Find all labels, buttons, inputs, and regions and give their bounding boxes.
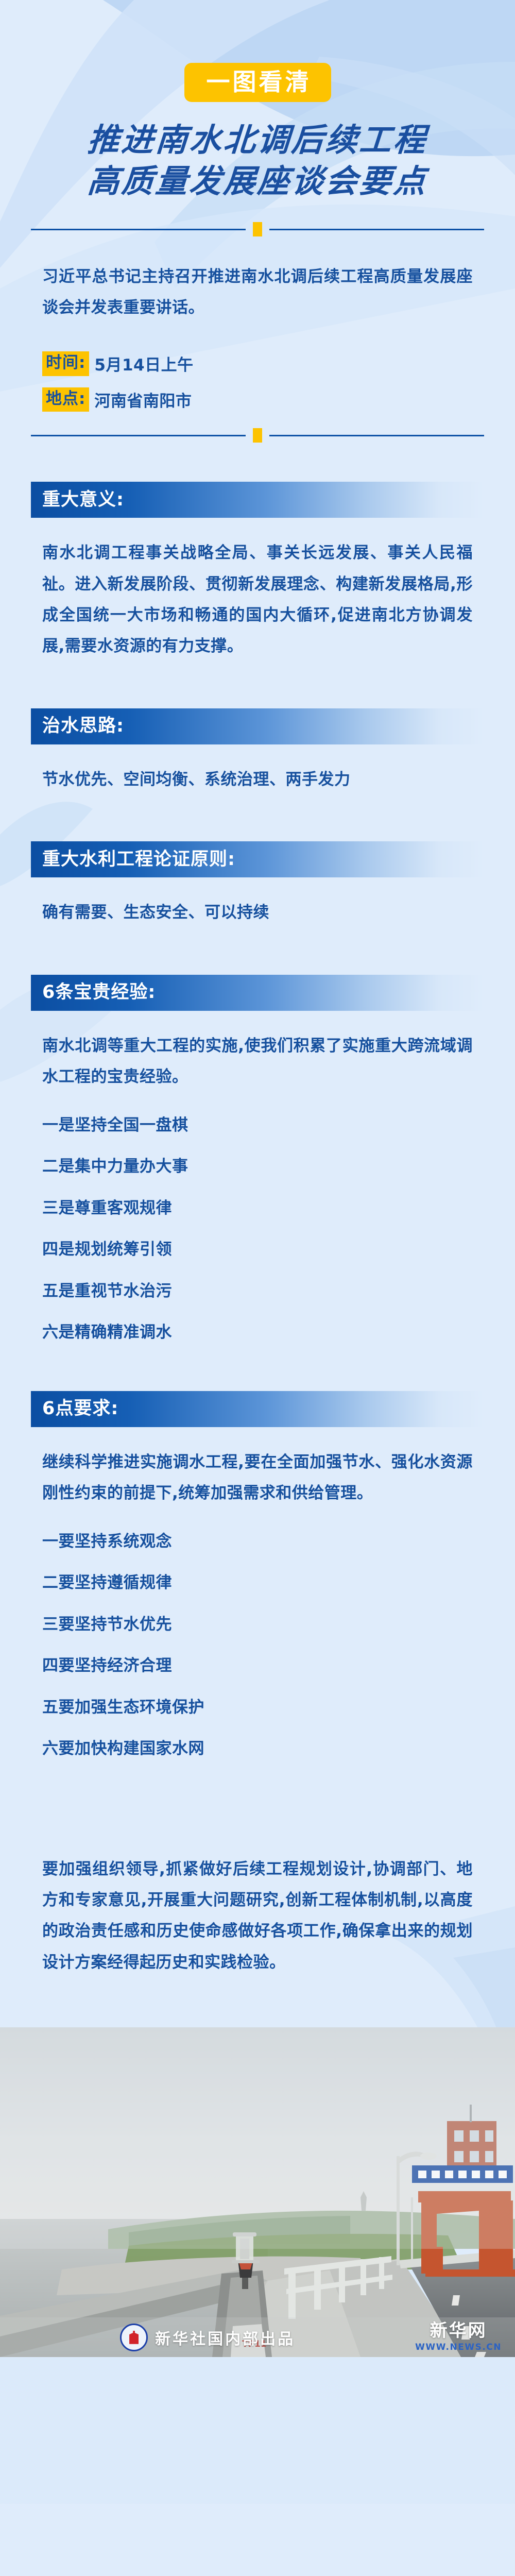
list-item: 三要坚持节水优先 xyxy=(42,1613,473,1637)
xinhuanet-brand: 新华网 WWW.NEWS.CN xyxy=(415,2322,502,2352)
footer-credit-text: 新华社国内部出品 xyxy=(155,2326,295,2349)
list-item: 五是重视节水治污 xyxy=(42,1279,473,1303)
meta-row-place: 地点: 河南省南阳市 xyxy=(42,387,473,412)
section-body-water-governance: 节水优先、空间均衡、系统治理、两手发力 xyxy=(0,764,515,795)
page-title-line-1: 推进南水北调后续工程 xyxy=(0,120,515,160)
section-header-project-principles: 重大水利工程论证原则: xyxy=(31,841,484,877)
time-label: 时间: xyxy=(42,351,89,376)
xinhua-logo-icon xyxy=(120,2324,148,2351)
section-body-six-requirements: 继续科学推进实施调水工程,要在全面加强节水、强化水资源刚性约束的前提下,统筹加强… xyxy=(0,1447,515,1761)
list-item: 四要坚持经济合理 xyxy=(42,1654,473,1678)
list-item: 六是精确精准调水 xyxy=(42,1320,473,1345)
divider-tick-icon-2 xyxy=(253,428,262,443)
hero-badge: 一图看清 xyxy=(184,63,331,102)
page-title: 推进南水北调后续工程 高质量发展座谈会要点 xyxy=(0,120,515,201)
section-header-label: 重大水利工程论证原则: xyxy=(42,851,235,869)
meta-row-time: 时间: 5月14日上午 xyxy=(42,351,473,376)
divider-rule-left-2 xyxy=(31,435,246,436)
hero-section: 一图看清 推进南水北调后续工程 高质量发展座谈会要点 xyxy=(0,0,515,201)
requirement-list: 一要坚持系统观念 二要坚持遵循规律 三要坚持节水优先 四要坚持经济合理 五要加强… xyxy=(42,1530,473,1761)
place-label: 地点: xyxy=(42,387,89,412)
section-header-six-requirements: 6点要求: xyxy=(31,1391,484,1427)
section-paragraph: 确有需要、生态安全、可以持续 xyxy=(42,897,473,928)
canal-photograph: TP11 xyxy=(0,2027,515,2357)
section-header-label: 6条宝贵经验: xyxy=(42,984,156,1002)
divider-top xyxy=(31,219,484,240)
list-item: 四是规划统筹引领 xyxy=(42,1238,473,1262)
divider-middle xyxy=(31,425,484,446)
divider-rule-left xyxy=(31,229,246,230)
section-paragraph: 南水北调工程事关战略全局、事关长远发展、事关人民福祉。进入新发展阶段、贯彻新发展… xyxy=(42,537,473,662)
section-body-project-principles: 确有需要、生态安全、可以持续 xyxy=(0,897,515,928)
list-item: 一是坚持全国一盘棋 xyxy=(42,1113,473,1138)
footer-credit-group: 新华社国内部出品 xyxy=(0,2324,415,2351)
photo-illustration: TP11 xyxy=(0,2027,515,2357)
divider-rule-right-2 xyxy=(269,435,484,436)
experience-list: 一是坚持全国一盘棋 二是集中力量办大事 三是尊重客观规律 四是规划统筹引领 五是… xyxy=(42,1113,473,1345)
section-header-significance: 重大意义: xyxy=(31,482,484,518)
list-item: 六要加快构建国家水网 xyxy=(42,1737,473,1761)
list-item: 三是尊重客观规律 xyxy=(42,1196,473,1221)
list-item: 五要加强生态环境保护 xyxy=(42,1696,473,1720)
footer-bar: 新华社国内部出品 新华网 WWW.NEWS.CN xyxy=(0,2317,515,2357)
list-item: 二要坚持遵循规律 xyxy=(42,1571,473,1595)
section-header-label: 重大意义: xyxy=(42,491,124,509)
meta-block: 时间: 5月14日上午 地点: 河南省南阳市 xyxy=(42,351,473,412)
brand-url: WWW.NEWS.CN xyxy=(415,2342,502,2352)
page-title-line-2: 高质量发展座谈会要点 xyxy=(0,161,515,201)
brand-name: 新华网 xyxy=(415,2322,502,2341)
divider-rule-right xyxy=(269,229,484,230)
closing-paragraph: 要加强组织领导,抓紧做好后续工程规划设计,协调部门、地方和专家意见,开展重大问题… xyxy=(42,1854,473,1978)
section-paragraph: 继续科学推进实施调水工程,要在全面加强节水、强化水资源刚性约束的前提下,统筹加强… xyxy=(42,1447,473,1509)
section-header-water-governance: 治水思路: xyxy=(31,708,484,744)
closing-section: 要加强组织领导,抓紧做好后续工程规划设计,协调部门、地方和专家意见,开展重大问题… xyxy=(0,1854,515,1978)
section-header-label: 6点要求: xyxy=(42,1400,118,1418)
time-value: 5月14日上午 xyxy=(94,352,193,375)
section-paragraph: 南水北调等重大工程的实施,使我们积累了实施重大跨流域调水工程的宝贵经验。 xyxy=(42,1030,473,1093)
section-body-significance: 南水北调工程事关战略全局、事关长远发展、事关人民福祉。进入新发展阶段、贯彻新发展… xyxy=(0,537,515,662)
section-paragraph: 节水优先、空间均衡、系统治理、两手发力 xyxy=(42,764,473,795)
intro-paragraph: 习近平总书记主持召开推进南水北调后续工程高质量发展座谈会并发表重要讲话。 xyxy=(42,261,473,324)
infographic-page: 一图看清 推进南水北调后续工程 高质量发展座谈会要点 习近平总书记主持召开推进南… xyxy=(0,0,515,2576)
list-item: 二是集中力量办大事 xyxy=(42,1155,473,1179)
intro-section: 习近平总书记主持召开推进南水北调后续工程高质量发展座谈会并发表重要讲话。 时间:… xyxy=(0,261,515,412)
section-body-six-experiences: 南水北调等重大工程的实施,使我们积累了实施重大跨流域调水工程的宝贵经验。 一是坚… xyxy=(0,1030,515,1345)
section-header-label: 治水思路: xyxy=(42,717,124,735)
list-item: 一要坚持系统观念 xyxy=(42,1530,473,1554)
divider-tick-icon xyxy=(253,222,262,236)
place-value: 河南省南阳市 xyxy=(94,388,192,411)
xinhua-tower-glyph xyxy=(129,2331,139,2344)
section-header-six-experiences: 6条宝贵经验: xyxy=(31,975,484,1011)
